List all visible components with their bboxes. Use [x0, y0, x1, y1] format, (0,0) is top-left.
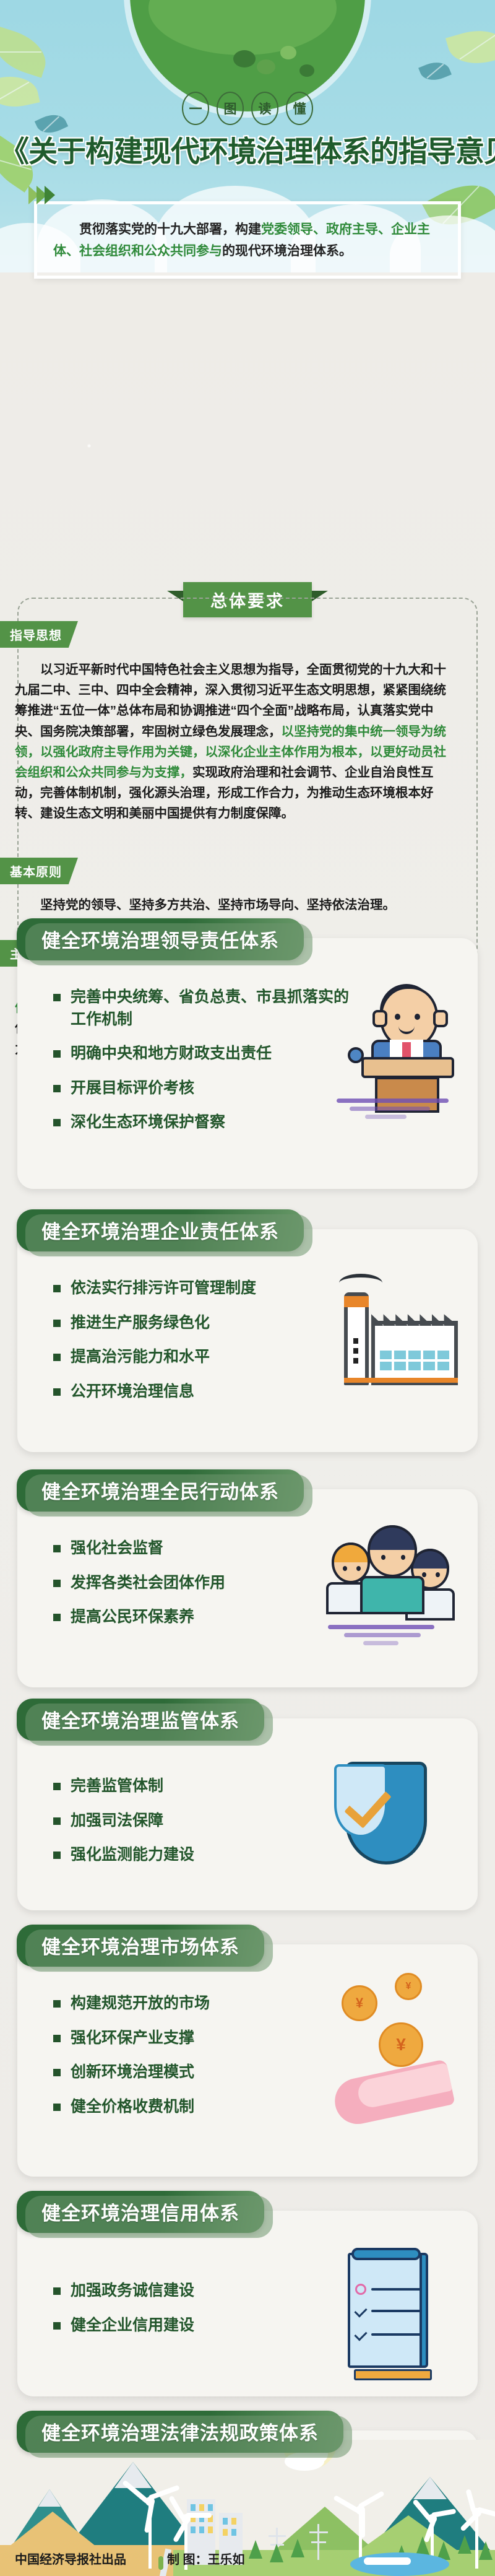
bullet-list-supervision: 完善监管体制 加强司法保障 强化监测能力建设	[53, 1775, 350, 1879]
coin-icon: ¥	[342, 1985, 377, 2021]
list-item: 健全价格收费机制	[53, 2096, 350, 2118]
mountain-snow	[413, 2477, 447, 2499]
power-pylon-icon	[308, 2524, 329, 2560]
window	[199, 2526, 204, 2533]
hand-with-coins-icon: ¥ ¥ ¥	[330, 1969, 467, 2112]
card-title-text: 健全环境治理法律法规政策体系	[41, 2422, 319, 2444]
list-item: 推进生产服务绿色化	[53, 1312, 350, 1334]
producer-label: 中国经济导报社出品	[15, 2549, 126, 2567]
list-item: 强化监测能力建设	[53, 1844, 350, 1866]
shield-check-icon	[322, 1753, 452, 1883]
list-item: 提高治污能力和水平	[53, 1346, 350, 1368]
list-item: 强化社会监督	[53, 1538, 350, 1560]
list-item: 健全企业信用建设	[53, 2315, 350, 2337]
mountain-snow	[38, 2489, 61, 2507]
card-market-system: 健全环境治理市场体系 构建规范开放的市场 强化环保产业支撑 创新环境治理模式 健…	[17, 1944, 478, 2177]
leaf-decoration-right	[445, 22, 495, 71]
coin-icon: ¥	[395, 1973, 422, 2000]
list-item: 发挥各类社会团体作用	[53, 1572, 350, 1595]
window	[208, 2504, 213, 2511]
read-badges: 一 图 读 懂	[0, 92, 495, 125]
list-item: 公开环境治理信息	[53, 1381, 350, 1403]
card-title-text: 健全环境治理信用体系	[41, 2203, 239, 2224]
read-badge: 一	[182, 92, 209, 125]
window	[191, 2526, 196, 2533]
card-title-credit: 健全环境治理信用体系	[17, 2191, 264, 2233]
list-item: 创新环境治理模式	[53, 2061, 350, 2084]
bullet-list-leadership: 完善中央统筹、省负总责、市县抓落实的工作机制 明确中央和地方财政支出责任 开展目…	[53, 986, 350, 1146]
read-badge: 图	[217, 92, 244, 125]
bullet-list-credit: 加强政务诚信建设 健全企业信用建设	[53, 2280, 350, 2349]
window	[223, 2518, 228, 2525]
tag-guiding-ideology: 指导思想	[0, 621, 78, 648]
bullet-list-public-action: 强化社会监督 发挥各类社会团体作用 提高公民环保素养	[53, 1538, 350, 1641]
card-title-public-action: 健全环境治理全民行动体系	[17, 1469, 304, 1512]
tag-basic-principles: 基本原则	[0, 858, 78, 884]
lake-highlight	[364, 2557, 411, 2565]
bullet-list-enterprise: 依法实行排污许可管理制度 推进生产服务绿色化 提高治污能力和水平 公开环境治理信…	[53, 1277, 350, 1415]
tree-icon	[270, 2544, 283, 2562]
window	[199, 2504, 204, 2511]
card-credit-system: 健全环境治理信用体系 加强政务诚信建设 健全企业信用建设	[17, 2211, 478, 2396]
bullet-list-market: 构建规范开放的市场 强化环保产业支撑 创新环境治理模式 健全价格收费机制	[53, 1993, 350, 2130]
intro-text-a: 贯彻落实党的十九大部署，构建	[79, 222, 261, 237]
card-public-action: 健全环境治理全民行动体系 强化社会监督 发挥各类社会团体作用 提高公民环保素养	[17, 1489, 478, 1687]
window	[223, 2529, 228, 2536]
card-title-leadership: 健全环境治理领导责任体系	[17, 918, 304, 960]
tree-icon	[479, 2541, 493, 2560]
leaf-decoration-teal	[418, 57, 452, 85]
list-item: 开展目标评价考核	[53, 1077, 350, 1100]
card-title-text: 健全环境治理全民行动体系	[41, 1481, 279, 1503]
list-item: 加强司法保障	[53, 1810, 350, 1832]
leaf-decoration-left	[0, 26, 53, 78]
content-body: 贯彻落实党的十九大部署，构建党委领导、政府主导、企业主体、社会组织和公众共同参与…	[0, 272, 495, 2440]
people-group-icon	[328, 1521, 464, 1645]
card-enterprise-responsibility: 健全环境治理企业责任体系 依法实行排污许可管理制度 推进生产服务绿色化 提高治污…	[17, 1229, 478, 1452]
card-title-market: 健全环境治理市场体系	[17, 1925, 264, 1967]
tree-icon	[249, 2540, 262, 2559]
coin-icon: ¥	[379, 2022, 423, 2067]
window	[208, 2526, 213, 2533]
mountain-snow	[114, 2462, 152, 2488]
intro-text-highlight-1: 党委领导、政府主导、	[261, 222, 391, 237]
card-title-text: 健全环境治理监管体系	[41, 1710, 239, 1732]
list-item: 完善中央统筹、省负总责、市县抓落实的工作机制	[53, 986, 350, 1030]
window	[231, 2518, 236, 2525]
page-title: 《关于构建现代环境治理体系的指导意见》	[0, 128, 495, 170]
card-title-supervision: 健全环境治理监管体系	[17, 1699, 264, 1741]
basic-principles-text: 坚持党的领导、坚持多方共治、坚持市场导向、坚持依法治理。	[15, 895, 458, 915]
checklist-clipboard-icon	[319, 2247, 449, 2377]
list-item: 完善监管体制	[53, 1775, 350, 1798]
podium-speaker-icon	[337, 983, 467, 1113]
chevron-right-icon	[28, 186, 53, 204]
card-title-text: 健全环境治理领导责任体系	[41, 930, 279, 952]
read-badge: 读	[251, 92, 278, 125]
window	[191, 2504, 196, 2511]
list-item: 深化生态环境保护督察	[53, 1112, 350, 1134]
card-leadership-responsibility: 健全环境治理领导责任体系 完善中央统筹、省负总责、市县抓落实的工作机制 明确中央…	[17, 938, 478, 1189]
credits-bar: 中国经济导报社出品 制 图：王乐如	[15, 2549, 245, 2567]
list-item: 构建规范开放的市场	[53, 1993, 350, 2015]
tree-icon	[458, 2535, 471, 2554]
intro-text-b: 的现代环境治理体系。	[222, 244, 352, 258]
list-item: 提高公民环保素养	[53, 1606, 350, 1629]
tree-icon	[416, 2536, 429, 2555]
read-badge: 懂	[286, 92, 313, 125]
footer-scene: 中国经济导报社出品 制 图：王乐如	[0, 2440, 495, 2576]
window	[231, 2529, 236, 2536]
card-title-text: 健全环境治理企业责任体系	[41, 1221, 279, 1243]
card-title-text: 健全环境治理市场体系	[41, 1936, 239, 1958]
guiding-ideology-text: 以习近平新时代中国特色社会主义思想为指导，全面贯彻党的十九大和十九届二中、三中、…	[15, 659, 458, 824]
card-supervision-system: 健全环境治理监管体系 完善监管体制 加强司法保障 强化监测能力建设	[17, 1718, 478, 1910]
intro-callout: 贯彻落实党的十九大部署，构建党委领导、政府主导、企业主体、社会组织和公众共同参与…	[34, 201, 461, 279]
card-title-law-policy: 健全环境治理法律法规政策体系	[17, 2411, 343, 2453]
tree-icon	[291, 2539, 304, 2557]
list-item: 依法实行排污许可管理制度	[53, 1277, 350, 1300]
list-item: 明确中央和地方财政支出责任	[53, 1043, 350, 1065]
designer-label: 制 图：王乐如	[167, 2549, 245, 2567]
infographic-poster: 一 图 读 懂 《关于构建现代环境治理体系的指导意见》 贯彻落实党的十九大部署，…	[0, 0, 495, 2576]
list-item: 强化环保产业支撑	[53, 2027, 350, 2050]
list-item: 加强政务诚信建设	[53, 2280, 350, 2302]
card-title-enterprise: 健全环境治理企业责任体系	[17, 1209, 304, 1251]
factory-icon	[333, 1264, 463, 1394]
